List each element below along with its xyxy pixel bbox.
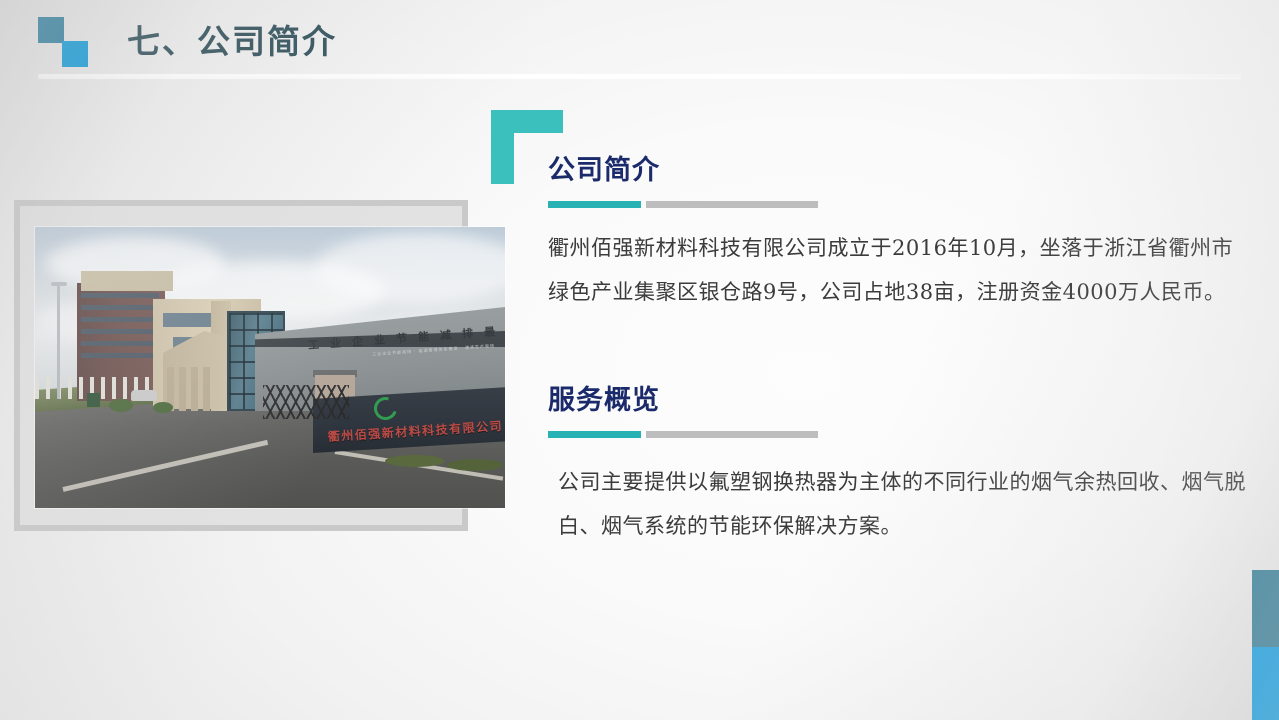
entrance-column: [191, 367, 198, 411]
edge-accent-teal: [1252, 570, 1279, 647]
header-logo-squares: [38, 17, 88, 67]
shrub: [385, 455, 445, 467]
header-divider-rule: [38, 74, 1241, 78]
section-heading-company-profile: 公司简介: [548, 152, 1238, 188]
divider-gray-segment: [646, 201, 818, 208]
square-bright-icon: [62, 41, 88, 67]
divider-gray-segment: [646, 431, 818, 438]
edge-accent-blocks: [1252, 570, 1279, 720]
section-company-profile: 公司简介 衢州佰强新材料科技有限公司成立于2016年10月，坐落于浙江省衢州市绿…: [548, 152, 1238, 314]
entrance-column: [203, 367, 210, 411]
section-divider: [548, 201, 818, 208]
shrub: [447, 459, 503, 471]
divider-teal-segment: [548, 431, 641, 438]
factory-photo: 工 业 企 业 节 能 减 排 最 工业企业节能减排 · 能源管理体系建设 · …: [35, 227, 505, 508]
accordion-gate: [263, 385, 349, 419]
slide-canvas: 七、公司简介: [0, 0, 1279, 720]
street-lamp-head: [51, 282, 67, 286]
section-service-overview: 服务概览 公司主要提供以氟塑钢换热器为主体的不同行业的烟气余热回收、烟气脱白、烟…: [548, 382, 1258, 548]
entrance-column: [179, 367, 186, 411]
section-heading-service-overview: 服务概览: [548, 382, 1258, 418]
road-marking: [62, 440, 268, 492]
shrub: [153, 402, 173, 413]
office-tower-roof: [81, 271, 173, 291]
square-dark-icon: [38, 17, 64, 43]
parked-car: [131, 390, 157, 401]
edge-accent-blue: [1252, 647, 1279, 720]
trash-bin: [87, 393, 100, 407]
section-divider: [548, 431, 818, 438]
street-lamp-post: [57, 285, 60, 399]
page-title: 七、公司简介: [127, 20, 337, 64]
divider-teal-segment: [548, 201, 641, 208]
shrub: [109, 399, 133, 412]
section-body-company-profile: 衢州佰强新材料科技有限公司成立于2016年10月，坐落于浙江省衢州市绿色产业集聚…: [548, 226, 1238, 314]
office-tower-windows: [81, 293, 159, 359]
section-body-service-overview: 公司主要提供以氟塑钢换热器为主体的不同行业的烟气余热回收、烟气脱白、烟气系统的节…: [558, 460, 1258, 548]
corner-bracket-left-bar: [491, 110, 514, 184]
